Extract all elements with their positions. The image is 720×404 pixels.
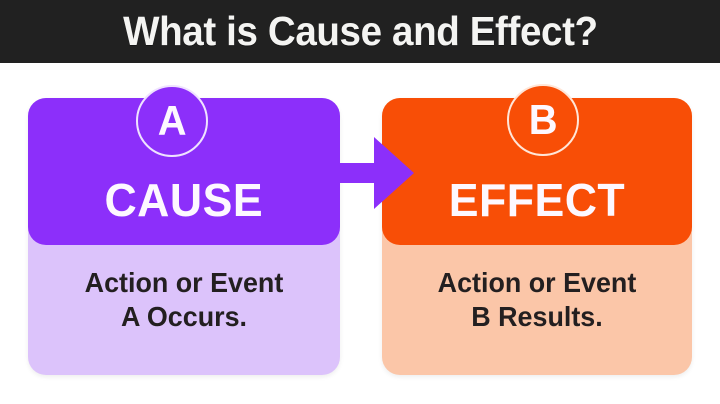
effect-title: EFFECT — [449, 177, 625, 245]
cause-description: Action or Event A Occurs. — [34, 266, 334, 334]
effect-description-line-2: B Results. — [388, 300, 686, 334]
cause-description-line-1: Action or Event — [34, 266, 334, 300]
cause-effect-diagram: CAUSE EFFECT A B Action or Event A Occur… — [0, 63, 720, 404]
infographic-canvas: What is Cause and Effect? CAUSE EFFECT A… — [0, 0, 720, 404]
badge-b-letter: B — [529, 99, 558, 141]
header-bar: What is Cause and Effect? — [0, 0, 720, 63]
badge-a: A — [136, 85, 208, 157]
badge-a-letter: A — [158, 100, 187, 142]
effect-description: Action or Event B Results. — [388, 266, 686, 334]
effect-description-line-1: Action or Event — [388, 266, 686, 300]
cause-title: CAUSE — [105, 177, 264, 245]
badge-b: B — [507, 84, 579, 156]
page-title: What is Cause and Effect? — [123, 11, 598, 52]
arrow-right-icon — [322, 123, 418, 223]
cause-description-line-2: A Occurs. — [34, 300, 334, 334]
